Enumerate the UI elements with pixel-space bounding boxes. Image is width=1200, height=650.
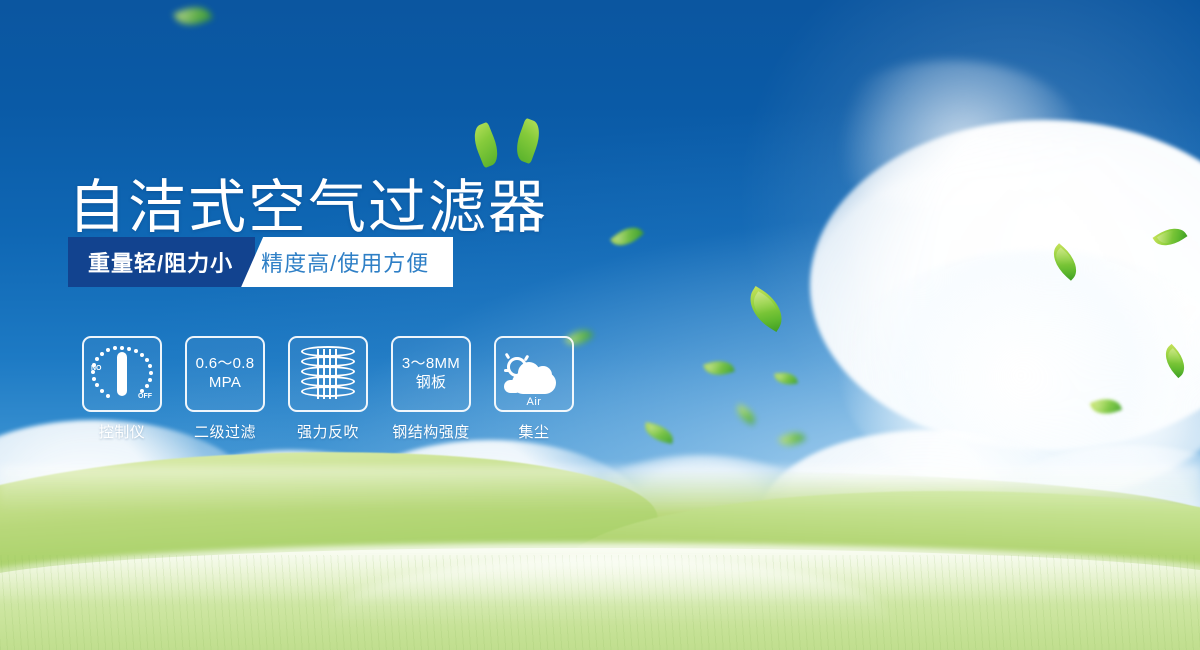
steel-line-1: 3～8MM	[402, 355, 460, 374]
subtitle-bar: 重量轻/阻力小 精度高/使用方便	[68, 237, 453, 287]
coil-stack-icon	[301, 345, 355, 403]
feature-item-controller[interactable]: NO OFF 控制仪	[82, 336, 162, 442]
grass-horizon-blend	[0, 466, 1200, 512]
feature-label: 控制仪	[99, 421, 146, 442]
subtitle-left-tag: 重量轻/阻力小	[68, 237, 255, 287]
pressure-line-2: MPA	[209, 374, 241, 393]
cloud-air-label: Air	[504, 396, 564, 408]
sprout-decoration	[474, 112, 548, 170]
feature-item-dust-collection[interactable]: Air 集尘	[494, 336, 574, 442]
feature-icon-box: Air	[494, 336, 574, 412]
feature-item-two-stage-filter[interactable]: 0.6～0.8 MPA 二级过滤	[185, 336, 265, 442]
subtitle-right-tag: 精度高/使用方便	[241, 237, 453, 287]
page-title: 自洁式空气过滤器	[68, 179, 548, 237]
dial-off-label: OFF	[138, 393, 152, 400]
feature-icon-box: 0.6～0.8 MPA	[185, 336, 265, 412]
feature-list: NO OFF 控制仪 0.6～0.8 MPA 二级过滤	[82, 336, 574, 442]
feature-item-backflush[interactable]: 强力反吹	[288, 336, 368, 442]
dial-gauge-icon: NO OFF	[91, 345, 153, 403]
cloud-sun-icon: Air	[504, 353, 564, 395]
sprout-leaf-right-icon	[511, 118, 544, 164]
feature-icon-box: NO OFF	[82, 336, 162, 412]
product-hero-banner: 自洁式空气过滤器 重量轻/阻力小 精度高/使用方便	[0, 0, 1200, 650]
feature-label: 二级过滤	[194, 421, 256, 442]
feature-icon-box	[288, 336, 368, 412]
sprout-leaf-left-icon	[469, 122, 503, 168]
feature-label: 集尘	[518, 421, 549, 442]
dial-pointer-icon	[117, 352, 127, 396]
feature-icon-box: 3～8MM 钢板	[391, 336, 471, 412]
dial-on-label: NO	[91, 365, 102, 372]
feature-label: 钢结构强度	[392, 421, 470, 442]
feature-label: 强力反吹	[297, 421, 359, 442]
pressure-line-1: 0.6～0.8	[196, 355, 255, 374]
feature-item-steel-strength[interactable]: 3～8MM 钢板 钢结构强度	[391, 336, 471, 442]
steel-line-2: 钢板	[416, 374, 447, 393]
